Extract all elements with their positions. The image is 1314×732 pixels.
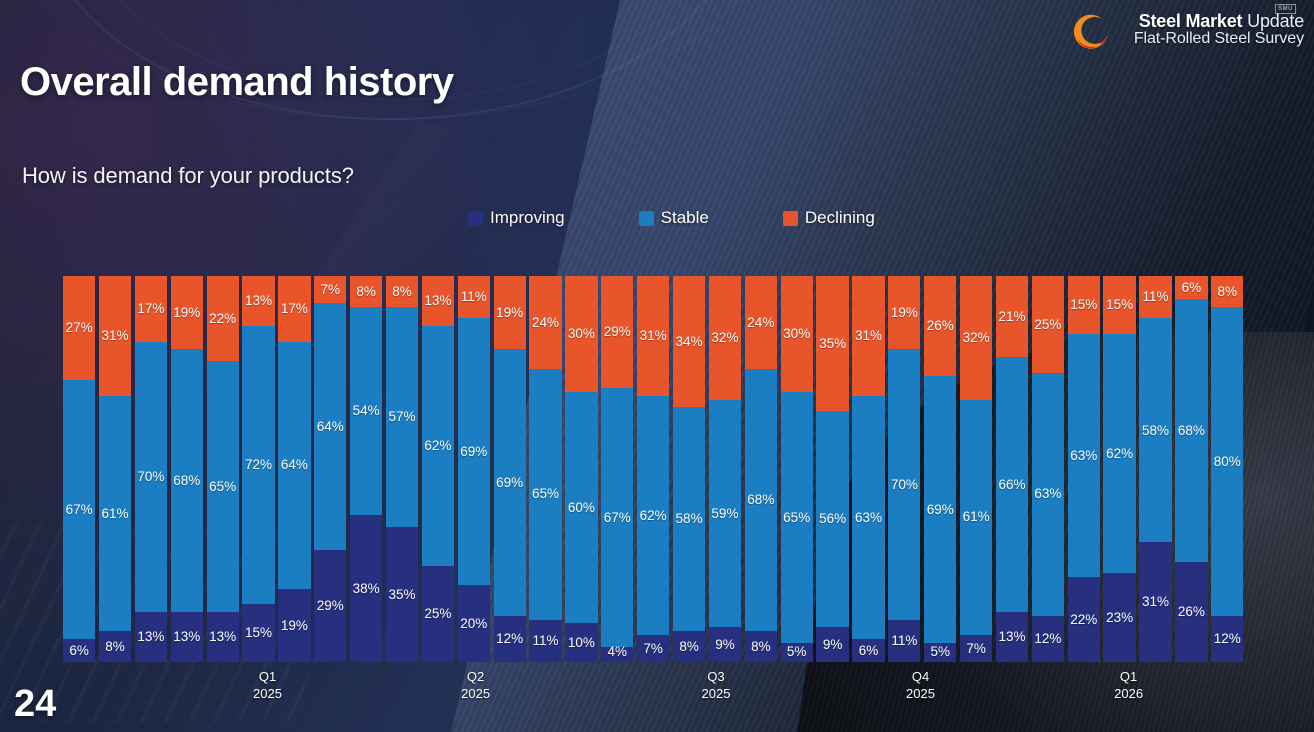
bar-segment-stable: 63% xyxy=(852,396,884,639)
bar-segment-declining: 21% xyxy=(996,276,1028,357)
bar-segment-declining: 30% xyxy=(565,276,597,392)
bar-segment-declining: 13% xyxy=(422,276,454,326)
bar-segment-value: 29% xyxy=(317,599,344,613)
bar-segment-declining: 15% xyxy=(1068,276,1100,334)
bar-segment-value: 58% xyxy=(1142,424,1169,438)
bar-segment-value: 6% xyxy=(1182,281,1202,295)
bar-segment-declining: 19% xyxy=(494,276,526,349)
bar-segment-value: 38% xyxy=(353,582,380,596)
bar-segment-declining: 24% xyxy=(529,276,561,369)
bar-segment-value: 67% xyxy=(66,503,93,517)
bar-segment-value: 13% xyxy=(998,630,1025,644)
bar-segment-declining: 29% xyxy=(601,276,633,388)
bar-column[interactable]: 13%62%25% xyxy=(422,276,454,662)
bar-segment-stable: 62% xyxy=(637,396,669,635)
bar-segment-improving: 12% xyxy=(1211,616,1243,662)
bar-column[interactable]: 6%68%26% xyxy=(1175,276,1207,662)
bar-segment-value: 9% xyxy=(823,638,843,652)
bar-segment-stable: 63% xyxy=(1032,373,1064,616)
bar-segment-declining: 31% xyxy=(637,276,669,396)
chart-legend: Improving Stable Declining xyxy=(468,208,875,228)
bar-segment-declining: 11% xyxy=(1139,276,1171,318)
bar-segment-value: 13% xyxy=(137,630,164,644)
bar-segment-value: 32% xyxy=(711,331,738,345)
bar-segment-declining: 13% xyxy=(242,276,274,326)
bar-segment-declining: 25% xyxy=(1032,276,1064,373)
bar-segment-declining: 17% xyxy=(135,276,167,342)
bar-segment-stable: 56% xyxy=(816,411,848,627)
bar-column[interactable]: 32%59%9% xyxy=(709,276,741,662)
bar-segment-value: 60% xyxy=(568,501,595,515)
bar-segment-improving: 8% xyxy=(745,631,777,662)
bar-segment-value: 26% xyxy=(1178,605,1205,619)
bar-segment-value: 62% xyxy=(1106,447,1133,461)
bar-segment-value: 6% xyxy=(69,644,89,658)
logo-tagline: Flat-Rolled Steel Survey xyxy=(1134,30,1304,48)
bar-segment-declining: 27% xyxy=(63,276,95,380)
bar-segment-stable: 72% xyxy=(242,326,274,604)
bar-segment-stable: 80% xyxy=(1211,307,1243,616)
axis-group-label: Q12026 xyxy=(1069,668,1189,702)
bar-segment-value: 19% xyxy=(173,306,200,320)
bar-column[interactable]: 7%64%29% xyxy=(314,276,346,662)
bar-column[interactable]: 19%70%11% xyxy=(888,276,920,662)
bar-segment-value: 19% xyxy=(496,306,523,320)
bar-segment-declining: 6% xyxy=(1175,276,1207,299)
bar-segment-value: 29% xyxy=(604,325,631,339)
bar-segment-improving: 13% xyxy=(996,612,1028,662)
bar-segment-declining: 24% xyxy=(745,276,777,369)
bar-segment-value: 22% xyxy=(1070,613,1097,627)
bar-column[interactable]: 8%54%38% xyxy=(350,276,382,662)
bar-segment-value: 5% xyxy=(787,645,807,659)
bar-segment-declining: 19% xyxy=(888,276,920,349)
bar-segment-improving: 35% xyxy=(386,527,418,662)
legend-swatch-improving-icon xyxy=(468,211,483,226)
bar-segment-improving: 10% xyxy=(565,623,597,662)
bar-segment-value: 19% xyxy=(891,306,918,320)
bar-segment-declining: 34% xyxy=(673,276,705,407)
bar-segment-value: 11% xyxy=(533,634,559,648)
axis-year: 2026 xyxy=(1069,685,1189,702)
bar-segment-value: 8% xyxy=(105,640,125,654)
bar-segment-improving: 12% xyxy=(494,616,526,662)
bar-segment-stable: 65% xyxy=(207,361,239,612)
bar-segment-value: 30% xyxy=(783,327,810,341)
bar-column[interactable]: 22%65%13% xyxy=(207,276,239,662)
logo-brand-bold: Steel Market xyxy=(1139,11,1243,31)
bar-segment-stable: 59% xyxy=(709,400,741,628)
legend-item-improving[interactable]: Improving xyxy=(468,208,565,228)
bar-segment-stable: 67% xyxy=(63,380,95,639)
bar-segment-value: 15% xyxy=(1106,298,1133,312)
axis-group-label: Q42025 xyxy=(861,668,981,702)
bar-segment-value: 57% xyxy=(389,410,416,424)
bar-segment-value: 34% xyxy=(676,335,703,349)
bar-segment-improving: 22% xyxy=(1068,577,1100,662)
bar-column[interactable]: 15%62%23% xyxy=(1103,276,1135,662)
bar-segment-stable: 65% xyxy=(781,392,813,643)
bar-segment-declining: 19% xyxy=(171,276,203,349)
bar-segment-value: 25% xyxy=(424,607,451,621)
bar-segment-stable: 69% xyxy=(458,318,490,584)
bar-segment-stable: 68% xyxy=(1175,299,1207,561)
bar-segment-stable: 62% xyxy=(422,326,454,565)
axis-quarter: Q4 xyxy=(861,668,981,685)
bar-column[interactable]: 19%68%13% xyxy=(171,276,203,662)
bar-segment-improving: 8% xyxy=(673,631,705,662)
bar-column[interactable]: 11%58%31% xyxy=(1139,276,1171,662)
bar-segment-value: 13% xyxy=(173,630,200,644)
bar-segment-value: 65% xyxy=(209,480,236,494)
bar-segment-value: 23% xyxy=(1106,611,1133,625)
bar-segment-value: 54% xyxy=(353,404,380,418)
bar-segment-improving: 5% xyxy=(781,643,813,662)
bar-segment-declining: 26% xyxy=(924,276,956,376)
bar-segment-value: 17% xyxy=(137,302,164,316)
bar-column[interactable]: 24%68%8% xyxy=(745,276,777,662)
bar-column[interactable]: 17%64%19% xyxy=(278,276,310,662)
bar-segment-value: 65% xyxy=(783,511,810,525)
legend-swatch-declining-icon xyxy=(783,211,798,226)
bar-segment-stable: 68% xyxy=(745,369,777,631)
bar-segment-value: 4% xyxy=(608,645,628,659)
bar-column[interactable]: 8%80%12% xyxy=(1211,276,1243,662)
bar-column[interactable]: 34%58%8% xyxy=(673,276,705,662)
bar-segment-value: 7% xyxy=(643,642,663,656)
bar-segment-improving: 7% xyxy=(960,635,992,662)
bar-segment-stable: 58% xyxy=(673,407,705,631)
bar-column[interactable]: 30%60%10% xyxy=(565,276,597,662)
bar-segment-value: 11% xyxy=(891,634,917,648)
bar-segment-value: 27% xyxy=(66,321,93,335)
bar-segment-value: 68% xyxy=(1178,424,1205,438)
bar-segment-value: 69% xyxy=(927,503,954,517)
bar-column[interactable]: 26%69%5% xyxy=(924,276,956,662)
bar-segment-value: 35% xyxy=(819,337,846,351)
bar-column[interactable]: 17%70%13% xyxy=(135,276,167,662)
bar-segment-stable: 58% xyxy=(1139,318,1171,542)
legend-swatch-stable-icon xyxy=(639,211,654,226)
bar-segment-value: 8% xyxy=(392,285,412,299)
bar-segment-value: 10% xyxy=(568,636,595,650)
bar-segment-value: 63% xyxy=(855,511,882,525)
bar-segment-value: 80% xyxy=(1214,455,1241,469)
legend-label-stable: Stable xyxy=(661,208,709,228)
bar-segment-value: 25% xyxy=(1034,318,1061,332)
bar-segment-value: 64% xyxy=(317,420,344,434)
bar-segment-value: 68% xyxy=(747,493,774,507)
bar-segment-value: 62% xyxy=(640,509,667,523)
axis-group-label: Q32025 xyxy=(656,668,776,702)
bar-segment-improving: 25% xyxy=(422,566,454,663)
bar-segment-improving: 13% xyxy=(207,612,239,662)
bar-segment-stable: 70% xyxy=(888,349,920,619)
bar-segment-value: 61% xyxy=(963,510,990,524)
slide-title: Overall demand history xyxy=(20,60,454,105)
slide-subtitle: How is demand for your products? xyxy=(22,163,354,189)
bar-segment-value: 64% xyxy=(281,458,308,472)
bar-segment-improving: 11% xyxy=(888,620,920,662)
axis-group-label: Q22025 xyxy=(416,668,536,702)
smu-badge: SMU xyxy=(1275,4,1296,14)
bar-segment-stable: 54% xyxy=(350,307,382,515)
bar-segment-value: 31% xyxy=(101,329,128,343)
axis-quarter: Q1 xyxy=(208,668,328,685)
bar-segment-stable: 60% xyxy=(565,392,597,624)
bar-segment-stable: 68% xyxy=(171,349,203,611)
axis-year: 2025 xyxy=(861,685,981,702)
bar-segment-stable: 70% xyxy=(135,342,167,612)
bar-segment-stable: 66% xyxy=(996,357,1028,612)
bar-segment-improving: 23% xyxy=(1103,573,1135,662)
bar-segment-declining: 32% xyxy=(709,276,741,400)
bar-segment-improving: 8% xyxy=(99,631,131,662)
axis-year: 2025 xyxy=(208,685,328,702)
bar-segment-value: 12% xyxy=(496,632,523,646)
bar-segment-value: 8% xyxy=(356,285,376,299)
bar-segment-improving: 29% xyxy=(314,550,346,662)
bar-segment-value: 69% xyxy=(460,445,487,459)
bar-segment-stable: 61% xyxy=(99,396,131,631)
bar-segment-stable: 63% xyxy=(1068,334,1100,577)
bar-segment-value: 70% xyxy=(891,478,918,492)
bar-column[interactable]: 31%61%8% xyxy=(99,276,131,662)
logo-brand-light: Update xyxy=(1247,11,1304,31)
bar-segment-value: 13% xyxy=(424,294,451,308)
bar-segment-improving: 20% xyxy=(458,585,490,662)
bar-segment-stable: 64% xyxy=(278,342,310,589)
bar-segment-declining: 15% xyxy=(1103,276,1135,334)
axis-group-label: Q12025 xyxy=(208,668,328,702)
bar-segment-stable: 69% xyxy=(924,376,956,642)
bar-segment-improving: 13% xyxy=(135,612,167,662)
bar-segment-value: 5% xyxy=(930,645,950,659)
smu-logo: SMU Steel Market Update Flat-Rolled Stee… xyxy=(1056,6,1306,58)
bar-segment-declining: 30% xyxy=(781,276,813,392)
bar-segment-value: 8% xyxy=(1217,285,1237,299)
bar-segment-value: 59% xyxy=(711,507,738,521)
axis-quarter: Q3 xyxy=(656,668,776,685)
bar-segment-value: 31% xyxy=(640,329,667,343)
bar-segment-value: 66% xyxy=(998,478,1025,492)
bar-column[interactable]: 15%63%22% xyxy=(1068,276,1100,662)
bar-segment-improving: 19% xyxy=(278,589,310,662)
bar-column[interactable]: 11%69%20% xyxy=(458,276,490,662)
bar-segment-improving: 6% xyxy=(852,639,884,662)
bar-segment-value: 22% xyxy=(209,312,236,326)
bar-segment-value: 35% xyxy=(389,588,416,602)
bar-segment-declining: 22% xyxy=(207,276,239,361)
bar-segment-value: 63% xyxy=(1034,487,1061,501)
bar-segment-value: 61% xyxy=(101,507,128,521)
bar-segment-declining: 8% xyxy=(386,276,418,307)
axis-year: 2025 xyxy=(416,685,536,702)
bar-column[interactable]: 32%61%7% xyxy=(960,276,992,662)
bar-segment-improving: 9% xyxy=(709,627,741,662)
slide-canvas: SMU Steel Market Update Flat-Rolled Stee… xyxy=(0,0,1314,732)
bar-column[interactable]: 25%63%12% xyxy=(1032,276,1064,662)
bar-segment-stable: 61% xyxy=(960,400,992,635)
bar-segment-value: 63% xyxy=(1070,449,1097,463)
bar-segment-declining: 7% xyxy=(314,276,346,303)
legend-item-stable[interactable]: Stable xyxy=(639,208,709,228)
bar-segment-improving: 6% xyxy=(63,639,95,662)
bar-segment-value: 24% xyxy=(532,316,559,330)
bar-segment-improving: 9% xyxy=(816,627,848,662)
bar-column[interactable]: 24%65%11% xyxy=(529,276,561,662)
bar-segment-value: 30% xyxy=(568,327,595,341)
bar-segment-declining: 8% xyxy=(1211,276,1243,307)
bar-segment-value: 12% xyxy=(1034,632,1061,646)
bar-segment-value: 7% xyxy=(966,642,986,656)
bar-segment-improving: 7% xyxy=(637,635,669,662)
bar-segment-value: 8% xyxy=(679,640,699,654)
bar-segment-stable: 65% xyxy=(529,369,561,620)
bar-column[interactable]: 35%56%9% xyxy=(816,276,848,662)
bar-column[interactable]: 27%67%6% xyxy=(63,276,95,662)
bar-segment-improving: 5% xyxy=(924,643,956,662)
bar-column[interactable]: 8%57%35% xyxy=(386,276,418,662)
bar-segment-value: 31% xyxy=(1142,595,1169,609)
page-number: 24 xyxy=(14,683,56,726)
bar-segment-value: 11% xyxy=(461,290,487,304)
bar-segment-improving: 38% xyxy=(350,515,382,662)
bar-segment-value: 8% xyxy=(751,640,771,654)
bar-segment-declining: 31% xyxy=(99,276,131,396)
bar-segment-declining: 32% xyxy=(960,276,992,400)
bar-column[interactable]: 31%63%6% xyxy=(852,276,884,662)
bar-segment-declining: 8% xyxy=(350,276,382,307)
bar-segment-value: 58% xyxy=(676,512,703,526)
bar-segment-value: 67% xyxy=(604,511,631,525)
legend-item-declining[interactable]: Declining xyxy=(783,208,875,228)
bar-segment-declining: 17% xyxy=(278,276,310,342)
bar-segment-value: 72% xyxy=(245,458,272,472)
bar-segment-value: 19% xyxy=(281,619,308,633)
bar-column[interactable]: 30%65%5% xyxy=(781,276,813,662)
bar-segment-stable: 57% xyxy=(386,307,418,527)
bar-segment-value: 6% xyxy=(859,644,879,658)
stacked-bar-chart: 27%67%6%31%61%8%17%70%13%19%68%13%22%65%… xyxy=(63,276,1247,662)
bar-segment-value: 12% xyxy=(1214,632,1241,646)
logo-brand-line: Steel Market Update xyxy=(1139,11,1304,32)
bar-segment-value: 31% xyxy=(855,329,882,343)
bar-segment-stable: 64% xyxy=(314,303,346,550)
bar-segment-value: 21% xyxy=(998,310,1025,324)
bar-segment-value: 70% xyxy=(137,470,164,484)
bar-segment-value: 69% xyxy=(496,476,523,490)
bar-segment-value: 13% xyxy=(245,294,272,308)
bar-segment-value: 26% xyxy=(927,319,954,333)
bar-segment-improving: 26% xyxy=(1175,562,1207,662)
legend-label-improving: Improving xyxy=(490,208,565,228)
bar-segment-stable: 62% xyxy=(1103,334,1135,573)
bar-segment-improving: 12% xyxy=(1032,616,1064,662)
bar-segment-declining: 11% xyxy=(458,276,490,318)
bar-segment-value: 32% xyxy=(963,331,990,345)
bar-segment-value: 11% xyxy=(1142,290,1168,304)
bar-segment-declining: 31% xyxy=(852,276,884,396)
bar-segment-value: 15% xyxy=(245,626,272,640)
bar-column[interactable]: 13%72%15% xyxy=(242,276,274,662)
bar-segment-improving: 4% xyxy=(601,647,633,662)
bar-segment-improving: 11% xyxy=(529,620,561,662)
bar-segment-value: 9% xyxy=(715,638,735,652)
bar-segment-improving: 13% xyxy=(171,612,203,662)
bar-column[interactable]: 29%67%4% xyxy=(601,276,633,662)
bar-segment-value: 56% xyxy=(819,512,846,526)
bar-segment-improving: 15% xyxy=(242,604,274,662)
bar-segment-value: 17% xyxy=(281,302,308,316)
chart-x-axis: Q12025Q22025Q32025Q42025Q12026 xyxy=(0,668,1314,718)
bar-column[interactable]: 31%62%7% xyxy=(637,276,669,662)
axis-year: 2025 xyxy=(656,685,776,702)
bar-segment-value: 20% xyxy=(460,617,487,631)
axis-quarter: Q1 xyxy=(1069,668,1189,685)
orange-crescent-icon xyxy=(1068,10,1112,54)
legend-label-declining: Declining xyxy=(805,208,875,228)
bar-segment-value: 13% xyxy=(209,630,236,644)
bar-segment-value: 24% xyxy=(747,316,774,330)
axis-quarter: Q2 xyxy=(416,668,536,685)
bar-segment-value: 65% xyxy=(532,487,559,501)
bar-segment-value: 68% xyxy=(173,474,200,488)
bar-segment-value: 15% xyxy=(1070,298,1097,312)
bar-segment-stable: 69% xyxy=(494,349,526,615)
bar-segment-value: 62% xyxy=(424,439,451,453)
bar-segment-improving: 31% xyxy=(1139,542,1171,662)
bar-segment-stable: 67% xyxy=(601,388,633,647)
bar-column[interactable]: 21%66%13% xyxy=(996,276,1028,662)
bar-column[interactable]: 19%69%12% xyxy=(494,276,526,662)
bar-segment-declining: 35% xyxy=(816,276,848,411)
bar-segment-value: 7% xyxy=(321,283,341,297)
